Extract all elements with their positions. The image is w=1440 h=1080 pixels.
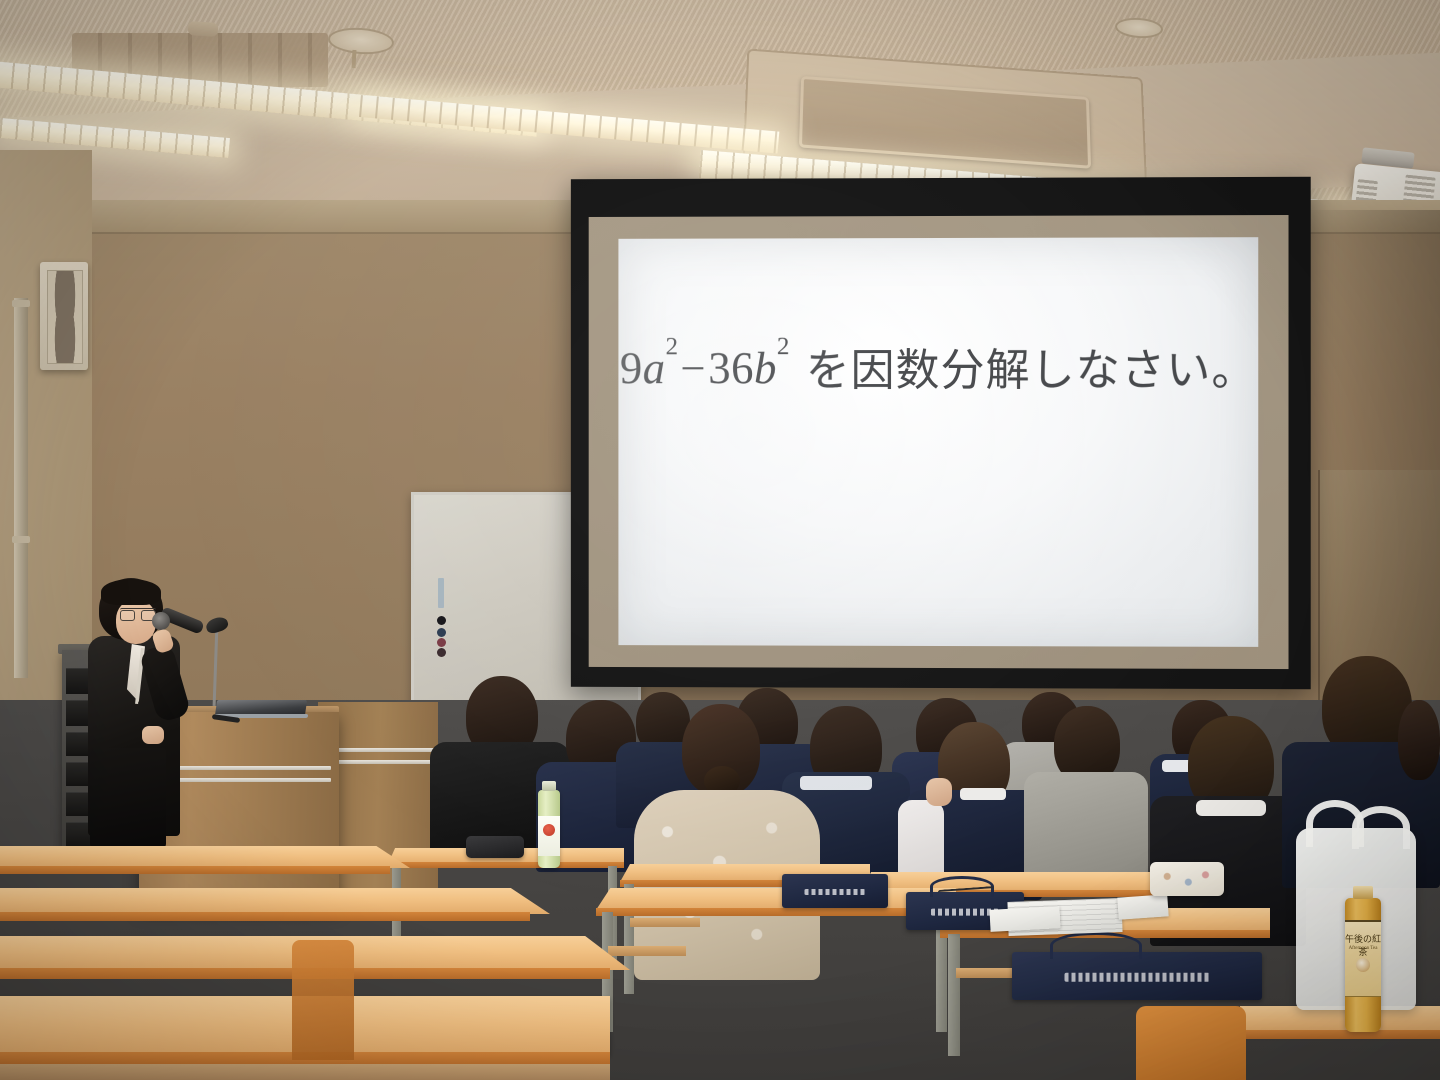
presenter-hair-fringe <box>101 579 161 605</box>
desk-edge <box>0 866 390 874</box>
bottle-label <box>538 816 560 856</box>
whiteboard-magnet-icon <box>437 638 446 647</box>
person-collar <box>800 776 872 790</box>
presenter-skirt <box>90 748 166 848</box>
bottle-label-graphic <box>1356 958 1370 972</box>
desk-edge <box>596 908 956 916</box>
desk-edge <box>1240 1030 1440 1039</box>
conduit-joint <box>12 536 30 543</box>
tote-logo <box>804 889 865 895</box>
microphone-head-icon <box>152 612 170 630</box>
desk-surface <box>596 888 956 910</box>
tote-handle <box>1050 932 1142 959</box>
ac-inner-panel <box>799 76 1091 169</box>
bottle-brand-sub: Afternoon Tea <box>1345 946 1381 951</box>
speaker-grille-icon <box>47 270 83 364</box>
lectern-accent-strip <box>155 766 331 770</box>
bottle-brand-jp: 午後の紅茶 <box>1345 932 1381 958</box>
bottle-cap <box>542 781 556 791</box>
person-hand <box>926 778 952 806</box>
desk-surface <box>0 846 410 868</box>
patterned-pouch <box>1150 862 1224 896</box>
bottle-cap <box>1353 886 1373 899</box>
tote-logo <box>1065 973 1210 982</box>
ceiling-sprinkler-icon <box>188 21 219 37</box>
milk-tea-bottle: 午後の紅茶 Afternoon Tea <box>1345 898 1381 1032</box>
pencil-case <box>466 836 524 858</box>
desk-edge <box>0 912 530 921</box>
chair-back <box>1136 1006 1246 1080</box>
slide-math-expression: 9a2−36b2 <box>620 343 790 393</box>
lecture-hall-photo: 9a2−36b2を因数分解しなさい。 <box>0 0 1440 1080</box>
wall-conduit <box>14 298 28 678</box>
person-collar <box>960 788 1006 800</box>
person-head <box>1398 700 1440 780</box>
wall-speaker <box>40 262 88 370</box>
slide-text-line: 9a2−36b2を因数分解しなさい。 <box>618 334 1258 399</box>
person-collar <box>1196 800 1266 816</box>
lectern-accent-strip <box>330 748 438 752</box>
desk-edge <box>388 862 624 868</box>
label-graphic <box>543 824 555 836</box>
pouch-pattern <box>1154 866 1220 892</box>
screen-mat-border: 9a2−36b2を因数分解しなさい。 <box>589 215 1289 669</box>
bottle-label: 午後の紅茶 Afternoon Tea <box>1345 920 1381 997</box>
person-cardigan <box>1024 772 1148 876</box>
desk-surface <box>0 888 550 914</box>
desk-leg <box>948 934 960 1056</box>
paper-handout <box>1117 894 1168 919</box>
presenter-hand <box>142 726 164 744</box>
whiteboard-magnet-strip <box>438 578 444 608</box>
projected-slide: 9a2−36b2を因数分解しなさい。 <box>618 237 1258 647</box>
whiteboard-magnet-icon <box>437 628 446 637</box>
chair-back <box>292 940 354 1060</box>
lectern-accent-strip <box>330 760 438 764</box>
projection-screen: 9a2−36b2を因数分解しなさい。 <box>571 177 1311 689</box>
paper-handout <box>989 906 1060 932</box>
navy-tote-bag <box>1012 952 1262 1000</box>
green-tea-bottle <box>538 790 560 868</box>
navy-tote-bag <box>782 874 888 908</box>
bag-handle <box>1352 806 1410 849</box>
whiteboard-magnet-icon <box>437 616 446 625</box>
desk-shelf <box>608 946 686 956</box>
eyeglasses-icon <box>120 608 156 619</box>
desk-front-panel <box>0 1064 610 1080</box>
presenter-face <box>116 600 156 644</box>
conduit-joint <box>12 300 30 307</box>
whiteboard-magnet-icon <box>437 648 446 657</box>
desk-shelf <box>630 918 700 927</box>
slide-japanese-instruction: を因数分解しなさい。 <box>806 345 1257 396</box>
lectern-accent-strip <box>155 778 331 782</box>
